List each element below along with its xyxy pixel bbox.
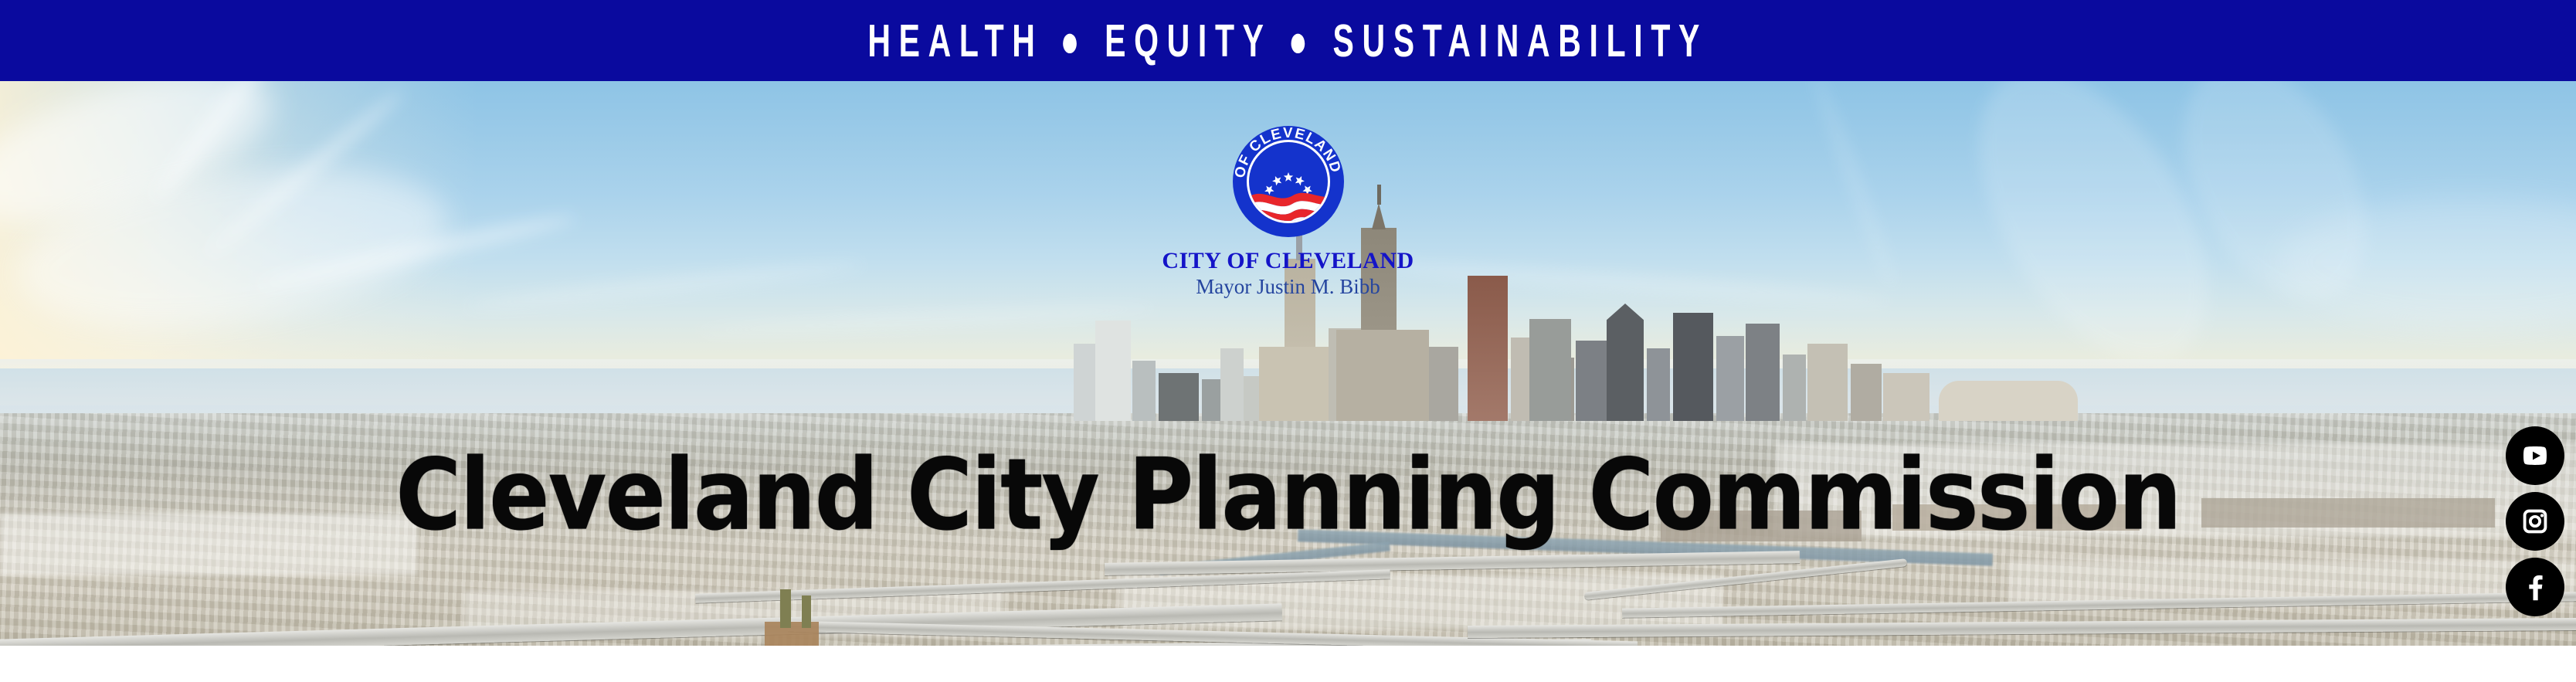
building xyxy=(1429,347,1458,421)
building xyxy=(1607,304,1644,421)
building xyxy=(1647,348,1670,421)
key-tower-base xyxy=(1336,330,1429,421)
building xyxy=(1159,373,1199,421)
page-title: Cleveland City Planning Commission xyxy=(0,446,2576,545)
church-spire xyxy=(780,589,791,628)
building xyxy=(1673,313,1713,421)
building xyxy=(1220,348,1244,421)
facebook-icon[interactable] xyxy=(2506,558,2564,616)
building xyxy=(1716,336,1744,421)
city-of-cleveland-label: CITY OF CLEVELAND xyxy=(0,248,2576,273)
building xyxy=(1851,364,1882,421)
church-spire xyxy=(802,595,811,628)
youtube-icon[interactable] xyxy=(2506,426,2564,485)
building xyxy=(1095,321,1131,421)
footer-strip xyxy=(0,646,2576,682)
tagline-text: HEALTH ● EQUITY ● SUSTAINABILITY xyxy=(868,18,1709,63)
building xyxy=(1746,324,1780,421)
stadium xyxy=(1939,381,2078,421)
city-of-cleveland-seal-icon: CITY OF CLEVELAND OHIO xyxy=(1230,124,1346,243)
building xyxy=(1883,373,1929,421)
city-logo-block[interactable]: CITY OF CLEVELAND OHIO xyxy=(0,124,2576,299)
tagline-banner: HEALTH ● EQUITY ● SUSTAINABILITY xyxy=(0,0,2576,81)
mayor-label: Mayor Justin M. Bibb xyxy=(0,276,2576,299)
building xyxy=(1807,344,1848,421)
social-links xyxy=(2505,426,2565,616)
building xyxy=(1576,341,1607,421)
instagram-icon[interactable] xyxy=(2506,492,2564,551)
building xyxy=(1529,319,1571,421)
page-root: HEALTH ● EQUITY ● SUSTAINABILITY xyxy=(0,0,2576,682)
building xyxy=(1132,361,1156,421)
building xyxy=(1783,355,1806,421)
